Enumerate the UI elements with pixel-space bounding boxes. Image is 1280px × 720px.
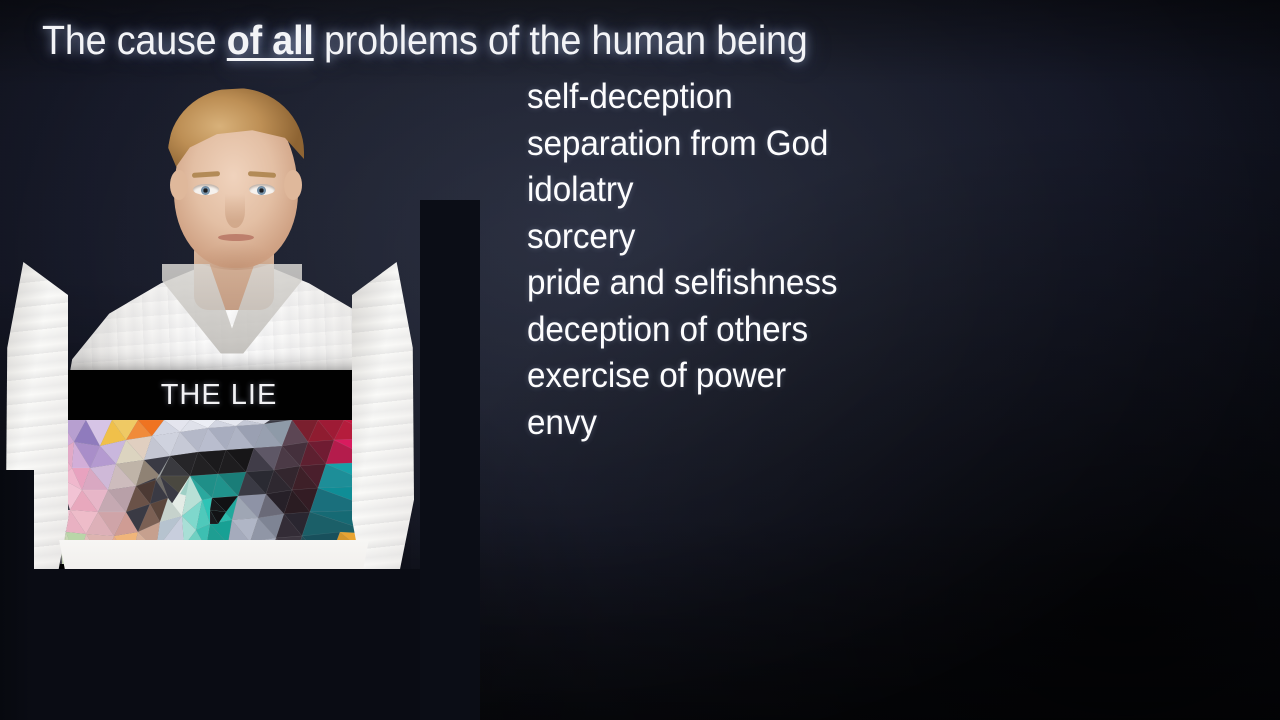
list-item: deception of others [527, 307, 1059, 354]
list-item: separation from God [527, 121, 1059, 168]
iris-right [257, 186, 266, 195]
photo-bottom-crop [0, 569, 460, 720]
list-item: envy [527, 400, 1059, 447]
mouth [218, 234, 254, 241]
ear-left [170, 170, 188, 200]
title-suffix: problems of the human being [314, 17, 808, 63]
list-item: sorcery [527, 214, 1059, 261]
list-item: idolatry [527, 167, 1059, 214]
list-item: exercise of power [527, 353, 1059, 400]
nose [225, 194, 245, 228]
ear-right [284, 170, 302, 200]
iris-left [201, 186, 210, 195]
list-item: pride and selfishness [527, 260, 1059, 307]
photo-right-crop [420, 200, 480, 720]
problem-list: self-deception separation from God idola… [527, 74, 1087, 446]
title-prefix: The cause [42, 17, 227, 63]
title-emphasis: of all [227, 17, 314, 63]
placard-top-caption: THE LIE [60, 370, 378, 420]
list-item: self-deception [527, 74, 1059, 121]
photo-left-crop [0, 470, 34, 720]
page-title: The cause of all problems of the human b… [42, 14, 808, 66]
slide-canvas: THE LIE [0, 0, 1280, 720]
